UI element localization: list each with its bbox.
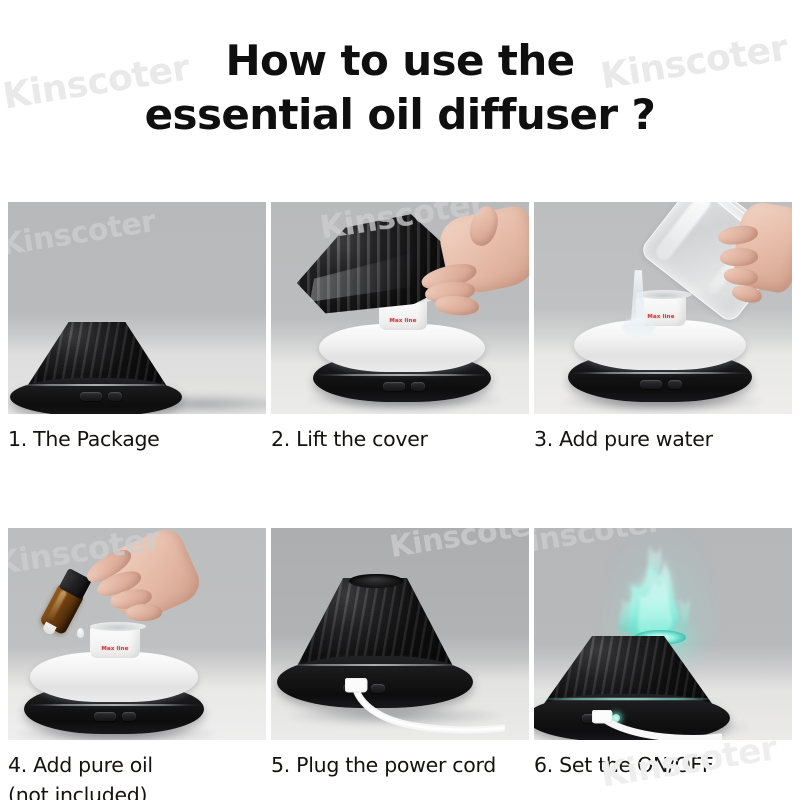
step-card-2: Kinscoter Max line [271,202,529,454]
infographic-page: Kinscoter Kinscoter How to use the essen… [0,0,800,800]
step-card-4: Kinscoter Max line [8,528,266,800]
step-image-5: Kinscoter [271,528,529,740]
steps-row-2: Kinscoter Max line [8,528,792,800]
step-image-1: Kinscoter [8,202,266,414]
diffuser-device [534,528,792,740]
base-glow-ring [534,698,726,700]
base-highlight [315,374,489,376]
step-card-5: Kinscoter [271,528,529,800]
hand-holding-cover [419,210,529,328]
mode-button[interactable] [122,712,136,721]
hand-holding-bottle [70,534,198,642]
base-highlight [26,704,202,706]
step-caption-4: 4. Add pure oil (not included) [8,740,266,800]
step-card-3: Max line [534,202,792,454]
steps-grid: Kinscoter [8,202,792,800]
step-caption-6: 6. Set the ON/OFF [534,740,792,780]
power-button[interactable] [80,392,102,401]
page-title-line-1: How to use the [0,34,800,88]
water-stream-splash [622,318,656,336]
mode-button[interactable] [108,392,122,401]
diffuser-device [8,202,266,414]
base-highlight [570,372,750,374]
base-highlight [279,664,471,666]
hand-holding-glass [720,204,792,324]
step-image-6: Kinscoter [534,528,792,740]
step-caption-5: 5. Plug the power cord [271,740,529,780]
step-caption-3: 3. Add pure water [534,414,792,454]
max-line-label: Max line [90,646,140,652]
steps-row-1: Kinscoter [8,202,792,454]
water-tank-bowl [319,324,485,372]
page-title: How to use the essential oil diffuser ? [0,34,800,142]
step-image-4: Kinscoter Max line [8,528,266,740]
step-image-2: Kinscoter Max line [271,202,529,414]
water-tank-bowl [30,652,198,702]
power-button[interactable] [640,380,662,389]
power-button[interactable] [383,382,405,391]
mode-button[interactable] [411,382,425,391]
step-image-3: Max line [534,202,792,414]
power-cord-icon [592,710,722,740]
step-caption-2: 2. Lift the cover [271,414,529,454]
step-card-1: Kinscoter [8,202,266,454]
power-button[interactable] [94,712,116,721]
mode-button[interactable] [668,380,682,389]
step-card-6: Kinscoter [534,528,792,800]
cone-rim [349,574,403,588]
power-cord-icon [345,678,505,740]
page-title-line-2: essential oil diffuser ? [0,88,800,142]
step-caption-1: 1. The Package [8,414,266,454]
base-highlight [12,384,180,386]
